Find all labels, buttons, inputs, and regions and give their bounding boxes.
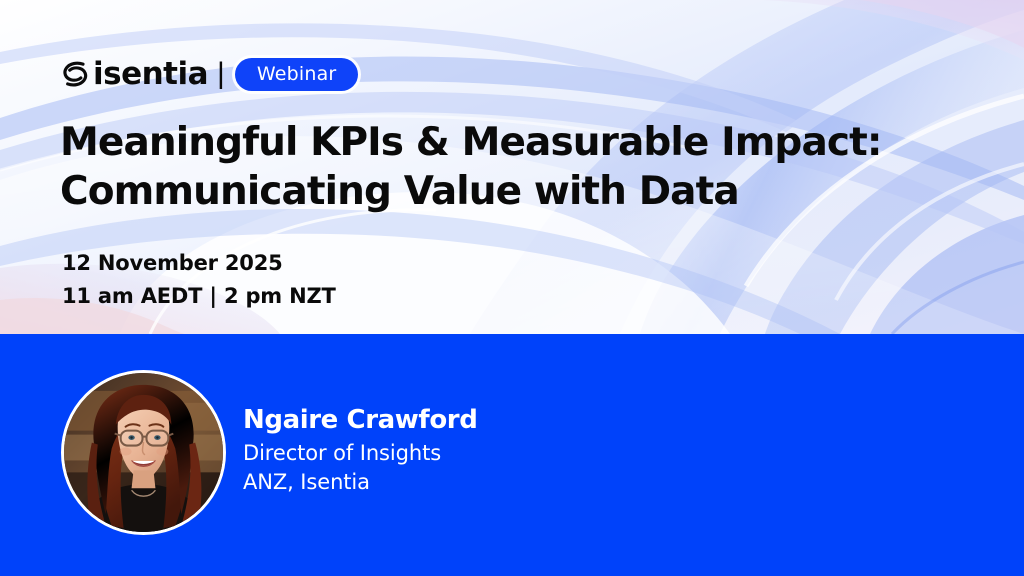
isentia-spiral-logo-icon xyxy=(60,59,90,89)
webinar-promo-banner: isentia | Webinar Meaningful KPIs & Meas… xyxy=(0,0,1024,576)
speaker-role: Director of Insights xyxy=(243,439,477,467)
title-line-2: Communicating Value with Data xyxy=(60,167,920,216)
speaker-portrait xyxy=(64,373,223,532)
brand-wordmark: isentia xyxy=(93,59,208,90)
event-schedule: 12 November 2025 11 am AEDT | 2 pm NZT xyxy=(62,247,336,313)
title-line-1: Meaningful KPIs & Measurable Impact: xyxy=(60,120,882,165)
brand-logo-row: isentia | Webinar xyxy=(60,55,358,93)
speaker-name: Ngaire Crawford xyxy=(243,404,477,437)
speaker-organisation: ANZ, Isentia xyxy=(243,468,477,496)
speaker-details: Ngaire Crawford Director of Insights ANZ… xyxy=(243,404,477,496)
event-time: 11 am AEDT | 2 pm NZT xyxy=(62,280,336,313)
avatar xyxy=(61,370,226,535)
event-date: 12 November 2025 xyxy=(62,247,336,280)
logo-divider: | xyxy=(217,59,225,89)
hero-section: isentia | Webinar Meaningful KPIs & Meas… xyxy=(0,0,1024,334)
page-title: Meaningful KPIs & Measurable Impact: Com… xyxy=(60,118,920,216)
webinar-badge: Webinar xyxy=(235,58,359,91)
